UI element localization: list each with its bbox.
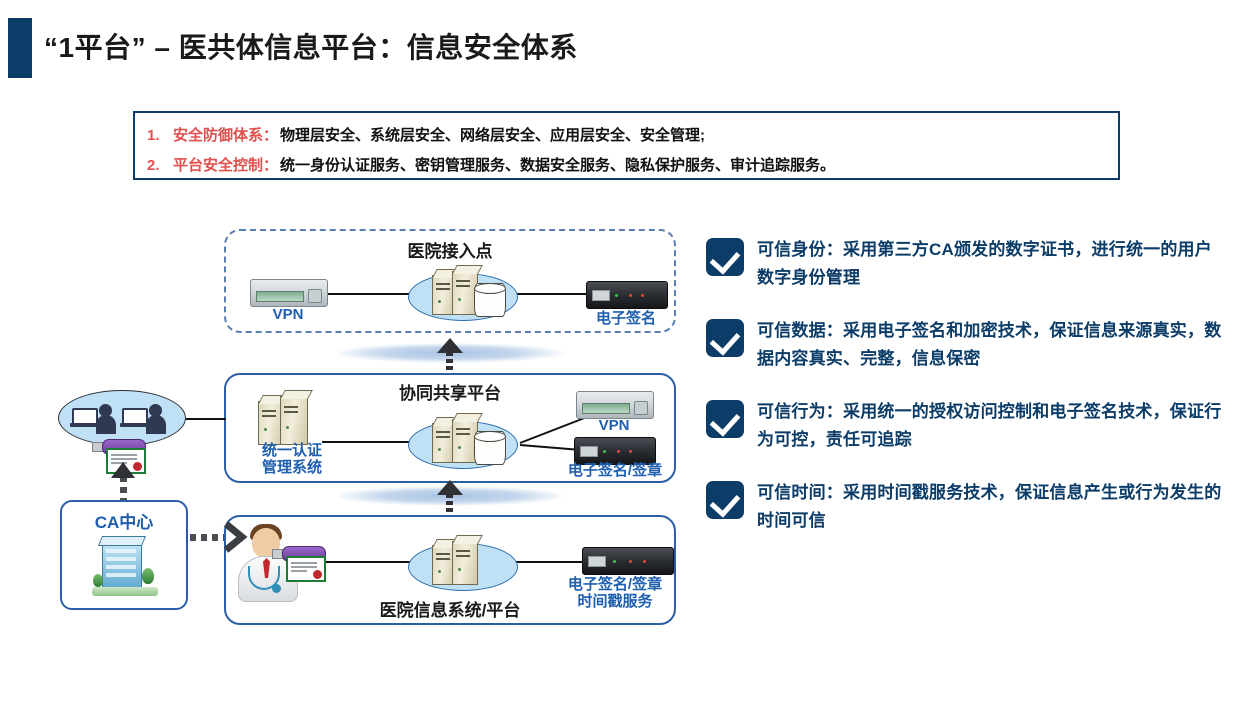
- auth-label-line1: 统一认证: [262, 442, 322, 459]
- signature-appliance-icon: [574, 437, 656, 465]
- chevron-right-icon: [222, 520, 250, 554]
- panel-hospital-access-point: 医院接入点 VPN: [224, 229, 676, 333]
- title-accent-bar: [8, 18, 32, 78]
- panel-middle-title: 协同共享平台: [399, 379, 501, 404]
- summary-row-1-key: 安全防御体系：: [173, 124, 278, 145]
- vpn-appliance-icon: [250, 279, 328, 307]
- timestamp-label-line2: 时间戳服务: [577, 593, 652, 610]
- trust-checklist: 可信身份：采用第三方CA颁发的数字证书，进行统一的用户数字身份管理 可信数据：采…: [706, 236, 1226, 560]
- wire-doctor-to-cloud: [326, 561, 416, 563]
- auth-server-icon: [254, 391, 324, 443]
- panel-middle-auth-label: 统一认证 管理系统: [240, 443, 344, 477]
- security-summary-box: 1. 安全防御体系： 物理层安全、系统层安全、网络层安全、应用层安全、安全管理;…: [133, 111, 1120, 180]
- checklist-item[interactable]: 可信身份：采用第三方CA颁发的数字证书，进行统一的用户数字身份管理: [706, 236, 1226, 291]
- server-cloud-icon: [408, 413, 516, 469]
- up-arrow-icon: [437, 480, 463, 510]
- check-icon: [706, 319, 744, 357]
- summary-row-1-value: 物理层安全、系统层安全、网络层安全、应用层安全、安全管理;: [280, 124, 705, 145]
- checklist-item-label: 可信时间：采用时间戳服务技术，保证信息产生或行为发生的时间可信: [757, 479, 1226, 534]
- summary-row-2-key: 平台安全控制：: [173, 154, 278, 175]
- check-icon: [706, 400, 744, 438]
- checklist-item[interactable]: 可信时间：采用时间戳服务技术，保证信息产生或行为发生的时间可信: [706, 479, 1226, 534]
- summary-row-1-number: 1.: [147, 127, 173, 144]
- wire-cloud-to-timestamp: [512, 561, 586, 563]
- panel-collaboration-platform: 协同共享平台 统一认证 管理系统: [224, 373, 676, 483]
- summary-row-2: 2. 平台安全控制： 统一身份认证服务、密钥管理服务、数据安全服务、隐私保护服务…: [147, 154, 835, 175]
- panel-bottom-timestamp-label: 电子签名/签章 时间戳服务: [552, 577, 678, 611]
- architecture-diagram: 医院接入点 VPN: [0, 200, 700, 660]
- timestamp-appliance-icon: [582, 547, 674, 575]
- ca-center-box: CA中心: [60, 500, 188, 610]
- check-icon: [706, 481, 744, 519]
- check-icon: [706, 238, 744, 276]
- arrow-head-up-icon: [111, 462, 135, 478]
- up-arrow-icon: [437, 338, 463, 368]
- summary-row-1: 1. 安全防御体系： 物理层安全、系统层安全、网络层安全、应用层安全、安全管理;: [147, 124, 705, 145]
- server-cloud-icon: [408, 265, 516, 321]
- panel-bottom-title: 医院信息系统/平台: [380, 596, 521, 621]
- office-building-icon: [92, 536, 158, 596]
- auth-label-line2: 管理系统: [262, 459, 322, 476]
- summary-row-2-number: 2.: [147, 157, 173, 174]
- panel-top-signature-label: 电子签名: [574, 311, 678, 328]
- wire-users-to-platform: [186, 418, 226, 420]
- vpn-appliance-icon: [576, 391, 654, 419]
- certificate-icon: [286, 556, 326, 582]
- panel-top-title: 医院接入点: [408, 237, 493, 262]
- dotted-arrow-ca-to-doctor: [190, 534, 224, 541]
- checklist-item[interactable]: 可信行为：采用统一的授权访问控制和电子签名技术，保证行为可控，责任可追踪: [706, 398, 1226, 453]
- checklist-item[interactable]: 可信数据：采用电子签名和加密技术，保证信息来源真实，数据内容真实、完整，信息保密: [706, 317, 1226, 372]
- panel-top-vpn-label: VPN: [250, 307, 326, 324]
- wire-vpn-to-cloud: [324, 293, 412, 295]
- page-title: “1平台” – 医共体信息平台：信息安全体系: [44, 26, 578, 66]
- panel-middle-vpn-label: VPN: [576, 418, 652, 435]
- ca-center-label: CA中心: [62, 508, 186, 533]
- server-cloud-icon: [408, 535, 516, 591]
- checklist-item-label: 可信身份：采用第三方CA颁发的数字证书，进行统一的用户数字身份管理: [757, 236, 1226, 291]
- slide-root: “1平台” – 医共体信息平台：信息安全体系 1. 安全防御体系： 物理层安全、…: [0, 0, 1257, 701]
- wire-cloud-to-signature: [514, 293, 590, 295]
- panel-middle-signature-label: 电子签名/签章: [552, 463, 678, 480]
- dotted-arrow-ca-to-users: [120, 476, 127, 500]
- summary-row-2-value: 统一身份认证服务、密钥管理服务、数据安全服务、隐私保护服务、审计追踪服务。: [280, 154, 835, 175]
- timestamp-label-line1: 电子签名/签章: [568, 576, 662, 593]
- signature-appliance-icon: [586, 281, 668, 309]
- checklist-item-label: 可信行为：采用统一的授权访问控制和电子签名技术，保证行为可控，责任可追踪: [757, 398, 1226, 453]
- checklist-item-label: 可信数据：采用电子签名和加密技术，保证信息来源真实，数据内容真实、完整，信息保密: [757, 317, 1226, 372]
